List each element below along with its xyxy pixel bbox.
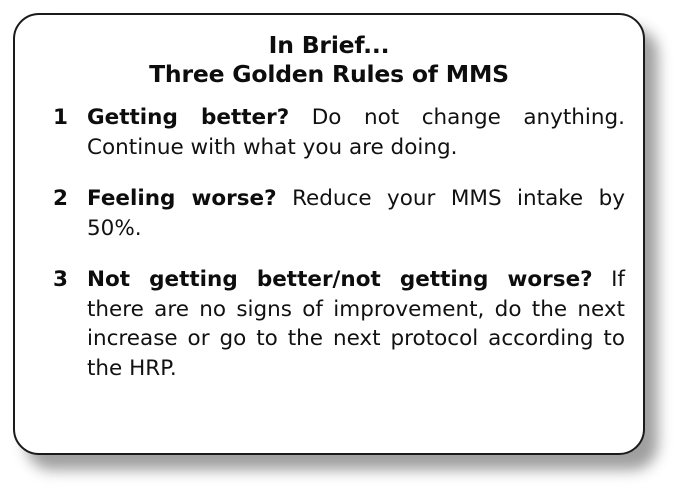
rule-lead: Not getting better/not getting worse? <box>87 267 593 292</box>
rule-text: Feeling worse? Reduce your MMS intake by… <box>87 184 625 243</box>
rule-item: 1 Getting better? Do not change anything… <box>33 103 625 162</box>
rule-lead: Feeling worse? <box>87 186 277 211</box>
in-brief-card: In Brief... Three Golden Rules of MMS 1 … <box>13 13 645 455</box>
card-content: In Brief... Three Golden Rules of MMS 1 … <box>15 15 643 453</box>
rule-text: Not getting better/not getting worse? If… <box>87 265 625 383</box>
rule-number: 3 <box>53 265 68 295</box>
golden-rules-list: 1 Getting better? Do not change anything… <box>33 103 625 383</box>
card-title: In Brief... Three Golden Rules of MMS <box>33 31 625 89</box>
rule-item: 3 Not getting better/not getting worse? … <box>33 265 625 383</box>
page-root: In Brief... Three Golden Rules of MMS 1 … <box>0 0 690 494</box>
rule-number: 1 <box>53 103 68 133</box>
rule-text: Getting better? Do not change anything. … <box>87 103 625 162</box>
title-line-2: Three Golden Rules of MMS <box>33 60 625 89</box>
rule-item: 2 Feeling worse? Reduce your MMS intake … <box>33 184 625 243</box>
title-line-1: In Brief... <box>33 31 625 60</box>
rule-lead: Getting better? <box>87 105 289 130</box>
rule-number: 2 <box>53 184 68 214</box>
